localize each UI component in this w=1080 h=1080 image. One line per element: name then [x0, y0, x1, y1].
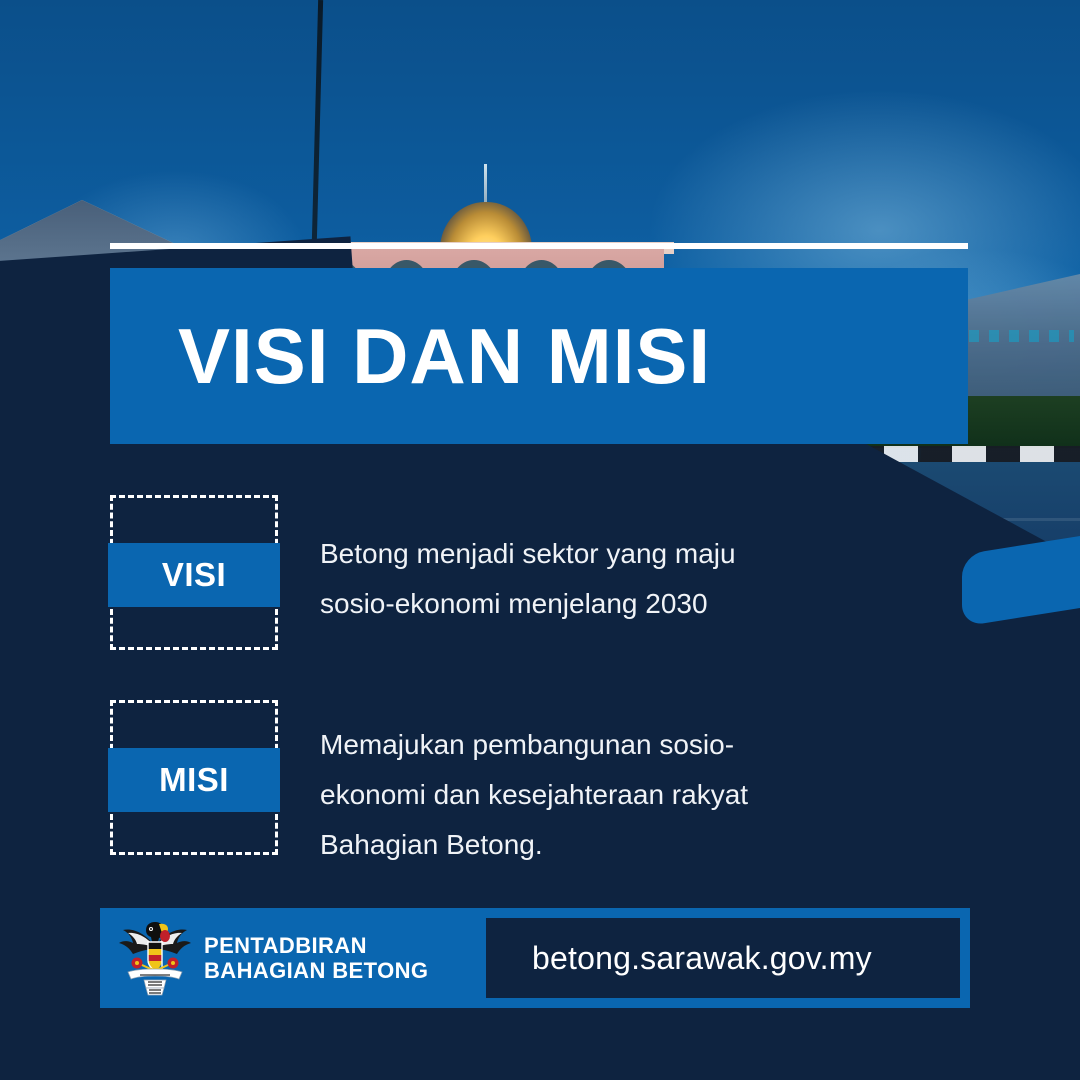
visi-tag-wrap: VISI [108, 495, 280, 650]
misi-body-text: Memajukan pembangunan sosio- ekonomi dan… [320, 720, 880, 870]
footer-url-box[interactable]: betong.sarawak.gov.my [486, 918, 960, 998]
visi-body-text: Betong menjadi sektor yang maju sosio-ek… [320, 529, 880, 629]
page-title: VISI DAN MISI [178, 317, 711, 395]
misi-tag-wrap: MISI [108, 700, 280, 855]
poster-root: BLOK A KOMPLEKS PEJABAT KERAJAAN [0, 0, 1080, 1080]
footer-bar: PENTADBIRAN BAHAGIAN BETONG betong.saraw… [100, 908, 970, 1008]
misi-tag-bar: MISI [108, 748, 280, 812]
sarawak-coat-of-arms-icon [118, 916, 192, 1000]
misi-tag-label: MISI [159, 761, 229, 799]
footer-brand-text: PENTADBIRAN BAHAGIAN BETONG [204, 933, 428, 983]
title-banner: VISI DAN MISI [110, 268, 968, 444]
title-rule [110, 243, 968, 249]
footer-brand: PENTADBIRAN BAHAGIAN BETONG [104, 912, 486, 1004]
visi-tag-bar: VISI [108, 543, 280, 607]
visi-tag-label: VISI [162, 556, 226, 594]
spire [484, 164, 487, 206]
website-url[interactable]: betong.sarawak.gov.my [532, 940, 872, 977]
